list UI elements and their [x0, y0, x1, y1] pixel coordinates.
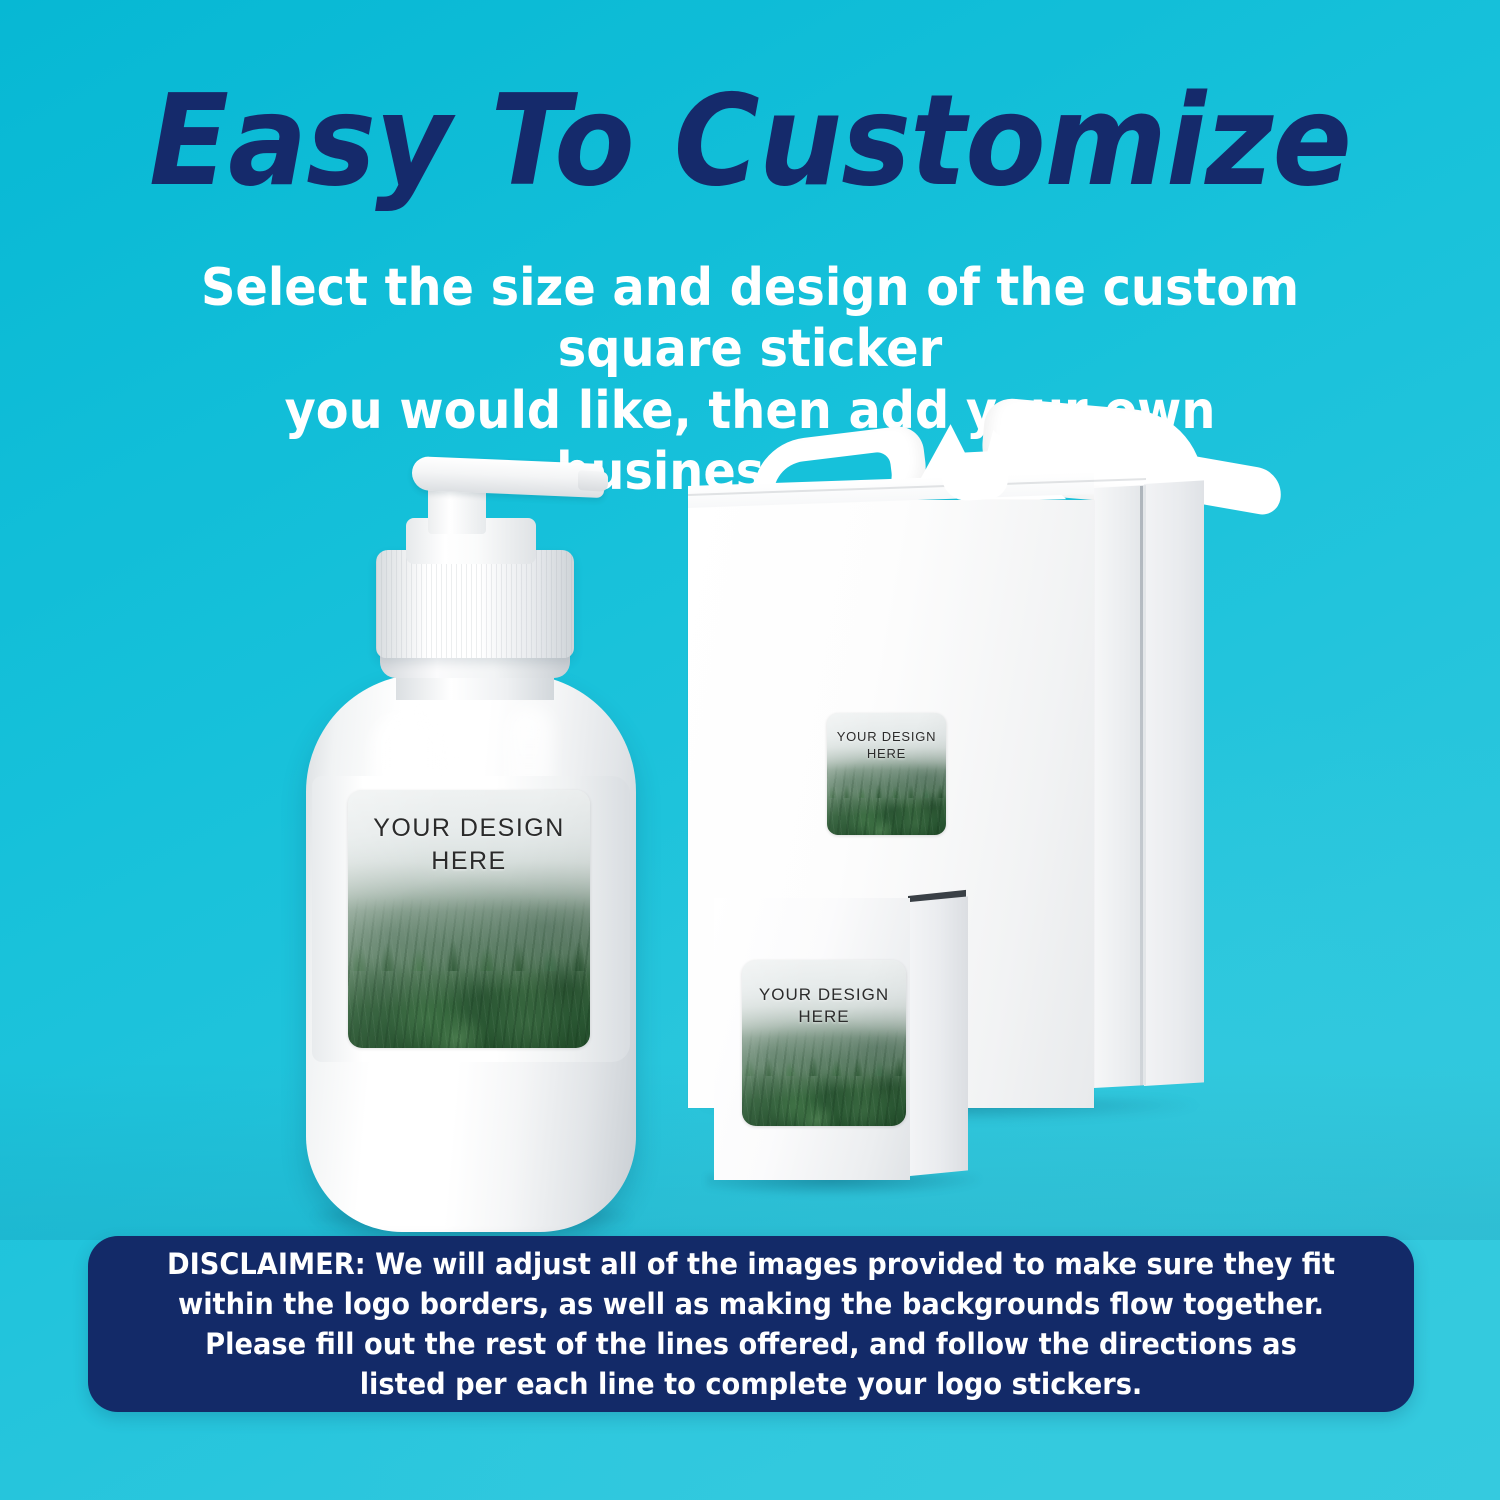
subtitle-line-1: Select the size and design of the custom… [201, 258, 1299, 379]
sticker-placeholder-text: YOUR DESIGN HERE [348, 812, 590, 878]
bottle-pump-collar [376, 550, 574, 658]
pump-nozzle-tip [578, 470, 608, 492]
sticker-placeholder-text: YOUR DESIGN HERE [742, 984, 906, 1029]
gift-box-side-panel [1094, 485, 1146, 1088]
gift-box-back-edge [1144, 480, 1204, 1086]
forest-canopy-detail [348, 898, 590, 1048]
sticker-placeholder-text: YOUR DESIGN HERE [827, 728, 946, 762]
sticker-on-bottle[interactable]: YOUR DESIGN HERE [348, 790, 590, 1048]
forest-canopy-detail [827, 764, 946, 835]
sticker-text-line-2: HERE [431, 847, 506, 875]
page-title: Easy To Customize [53, 78, 1448, 204]
sticker-text-line-2: HERE [798, 1007, 849, 1026]
sticker-text-line-1: YOUR DESIGN [759, 985, 889, 1004]
disclaimer-text: DISCLAIMER: We will adjust all of the im… [164, 1244, 1339, 1404]
bow-knot [941, 450, 1009, 501]
sticker-on-small-box[interactable]: YOUR DESIGN HERE [742, 960, 906, 1126]
disclaimer-label: DISCLAIMER: [167, 1247, 366, 1281]
sticker-text-line-2: HERE [867, 746, 906, 761]
forest-canopy-detail [742, 1030, 906, 1126]
gift-box-seam [1140, 486, 1143, 1086]
sticker-on-gift-box[interactable]: YOUR DESIGN HERE [827, 713, 946, 835]
sticker-text-line-1: YOUR DESIGN [837, 729, 937, 744]
promo-canvas: Easy To Customize Select the size and de… [0, 0, 1500, 1500]
disclaimer-panel: DISCLAIMER: We will adjust all of the im… [88, 1236, 1414, 1412]
sticker-text-line-1: YOUR DESIGN [373, 814, 565, 842]
small-box-side-panel [910, 896, 968, 1176]
